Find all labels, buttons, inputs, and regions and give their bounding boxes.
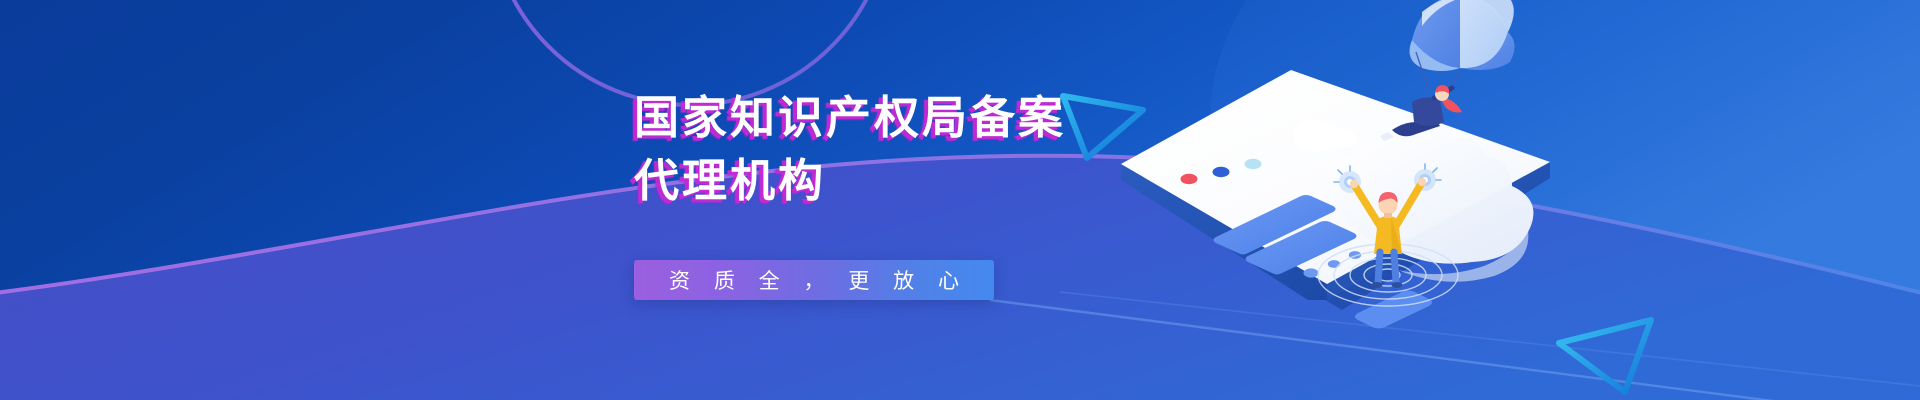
banner-content: 国家知识产权局备案 代理机构 资 质 全 ， 更 放 心 <box>0 0 1920 400</box>
headline-block: 国家知识产权局备案 代理机构 <box>634 86 1194 212</box>
headline-line-1: 国家知识产权局备案 <box>634 86 1194 149</box>
tagline-badge-label: 资 质 全 ， 更 放 心 <box>660 265 968 295</box>
hero-banner: 国家知识产权局备案 代理机构 资 质 全 ， 更 放 心 <box>0 0 1920 400</box>
tagline-badge[interactable]: 资 质 全 ， 更 放 心 <box>634 260 994 300</box>
headline-line-2: 代理机构 <box>634 149 1194 212</box>
